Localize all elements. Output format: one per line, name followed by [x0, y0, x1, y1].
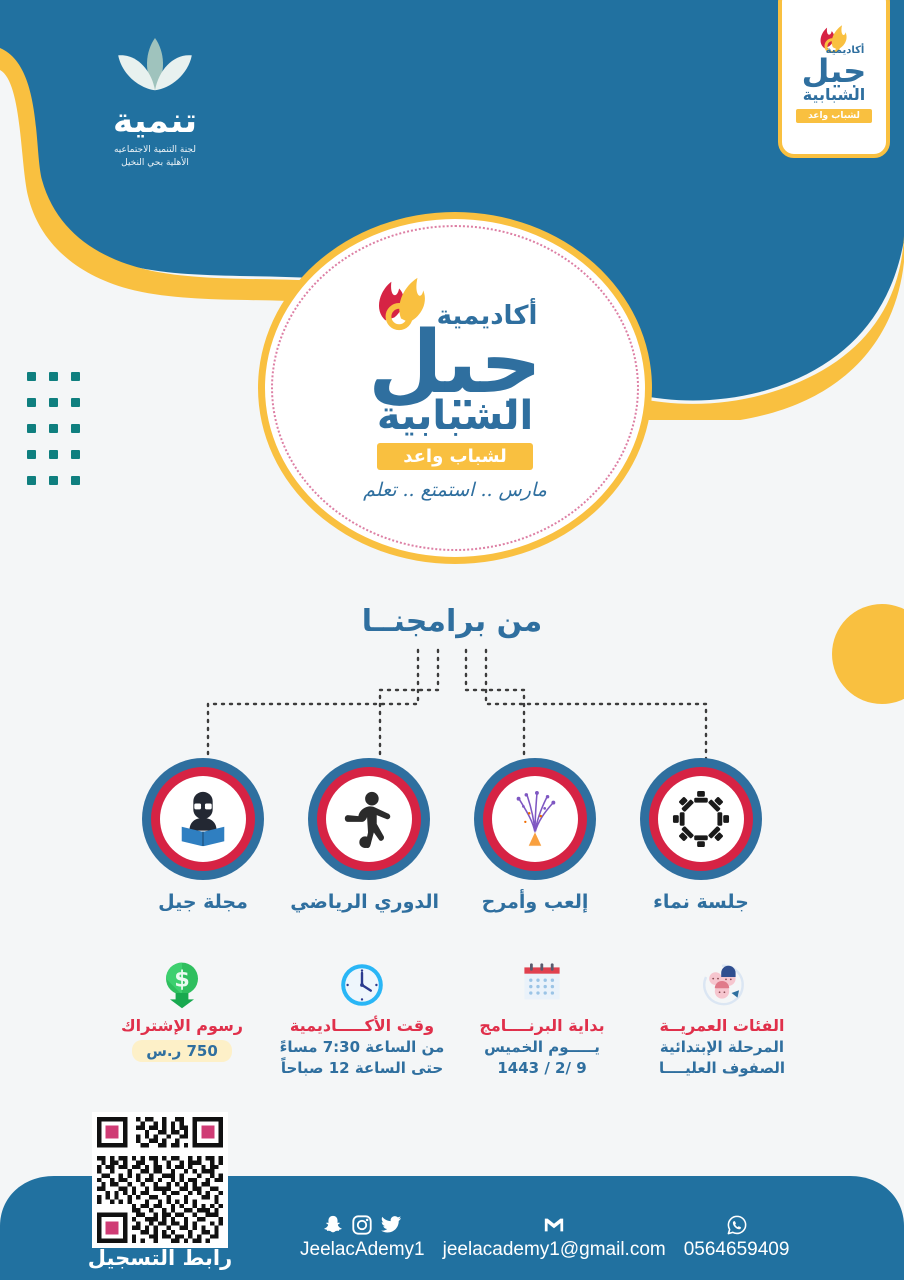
qr-code-icon — [97, 1117, 223, 1243]
logo-shababiyah: الشبابية — [377, 397, 533, 435]
social-handle: JeelacAdemy1 — [300, 1239, 425, 1261]
info-start-date: بداية البرنــــامج يـــــوم الخميس 9 /2 … — [456, 958, 628, 1079]
contact-whatsapp[interactable]: 0564659409 — [684, 1212, 790, 1261]
qr-label: رابط التسجيل — [72, 1246, 248, 1270]
age-groups-icon — [698, 961, 746, 1009]
program-label: الدوري الرياضي — [299, 891, 439, 913]
svg-text:$: $ — [174, 967, 190, 993]
organization-logo: تنمية لجنة التنمية الاجتماعيه الأهلية بح… — [62, 36, 248, 170]
contact-email[interactable]: jeelacademy1@gmail.com — [443, 1212, 666, 1261]
twitter-icon — [380, 1214, 402, 1236]
poster-canvas: تنمية لجنة التنمية الاجتماعيه الأهلية بح… — [0, 0, 904, 1280]
info-heading: بداية البرنــــامج — [456, 1016, 628, 1037]
info-academy-time: وقت الأكـــــاديمية من الساعة 7:30 مساءً… — [276, 958, 448, 1079]
soccer-player-icon — [340, 790, 398, 848]
logo-tagline: مارس .. استمتع .. تعلم — [363, 479, 547, 501]
info-heading: الفئات العمريــة — [636, 1016, 808, 1037]
info-age-groups: الفئات العمريــة المرحلة الإبتدائية الصف… — [636, 958, 808, 1079]
program-label: مجلة جيل — [133, 891, 273, 913]
program-item[interactable]: مجلة جيل — [133, 758, 273, 913]
whatsapp-icon — [726, 1214, 748, 1236]
info-line-1: المرحلة الإبتدائية — [636, 1037, 808, 1058]
reading-person-icon — [174, 790, 232, 848]
program-ring — [640, 758, 762, 880]
decorative-dot-grid — [14, 372, 80, 502]
info-line-2: 9 /2 / 1443 — [456, 1058, 628, 1079]
main-academy-logo: أكاديمية جيل الشبابية لشباب واعد مارس ..… — [258, 212, 652, 564]
snapchat-icon — [322, 1214, 344, 1236]
fireworks-icon — [506, 790, 564, 848]
program-ring — [474, 758, 596, 880]
money-pin-icon: $ — [158, 961, 206, 1009]
event-info-row: الفئات العمريــة المرحلة الإبتدائية الصف… — [0, 958, 904, 1079]
org-subtitle-line2: الأهلية بحي النخيل — [62, 157, 248, 170]
info-line-2: حتى الساعة 12 صباحاً — [276, 1058, 448, 1079]
whatsapp-value: 0564659409 — [684, 1239, 790, 1261]
program-item[interactable]: جلسة نماء — [631, 758, 771, 913]
info-subscription-fee: $ رسوم الإشتراك 750 ر.س — [96, 958, 268, 1062]
program-item[interactable]: الدوري الرياضي — [299, 758, 439, 913]
footer-contacts: JeelacAdemy1 jeelacademy1@gmail.com 0564… — [300, 1212, 880, 1261]
instagram-icon — [351, 1214, 373, 1236]
program-ring — [308, 758, 430, 880]
calendar-icon — [518, 961, 566, 1009]
info-line-2: الصفوف العليــــا — [636, 1058, 808, 1079]
programs-connector-tree — [0, 648, 904, 768]
academy-badge: أكاديمية جيل الشبابية لشباب واعد — [778, 0, 890, 158]
program-ring — [142, 758, 264, 880]
program-item[interactable]: إلعب وأمرح — [465, 758, 605, 913]
info-heading: رسوم الإشتراك — [96, 1016, 268, 1037]
org-name: تنمية — [62, 104, 248, 140]
contact-social[interactable]: JeelacAdemy1 — [300, 1212, 425, 1261]
programs-section-title: من برامجنــا — [0, 604, 904, 639]
programs-row: جلسة نماء — [0, 758, 904, 913]
badge-shababiyah: الشبابية — [803, 87, 866, 103]
lotus-leaf-icon — [62, 36, 248, 98]
people-circle-icon — [672, 790, 730, 848]
logo-jeel: جيل — [368, 327, 542, 400]
info-heading: وقت الأكـــــاديمية — [276, 1016, 448, 1037]
info-line-1: يـــــوم الخميس — [456, 1037, 628, 1058]
badge-jeel: جيل — [802, 57, 867, 86]
clock-icon — [338, 961, 386, 1009]
badge-ribbon: لشباب واعد — [796, 109, 872, 123]
info-line-1: من الساعة 7:30 مساءً — [276, 1037, 448, 1058]
logo-ribbon: لشباب واعد — [377, 443, 533, 470]
fee-amount-badge: 750 ر.س — [132, 1040, 232, 1062]
envelope-icon — [543, 1214, 565, 1236]
program-label: إلعب وأمرح — [465, 891, 605, 913]
org-subtitle-line1: لجنة التنمية الاجتماعيه — [62, 144, 248, 157]
registration-qr-code[interactable] — [92, 1112, 228, 1248]
email-value: jeelacademy1@gmail.com — [443, 1239, 666, 1261]
program-label: جلسة نماء — [631, 891, 771, 913]
